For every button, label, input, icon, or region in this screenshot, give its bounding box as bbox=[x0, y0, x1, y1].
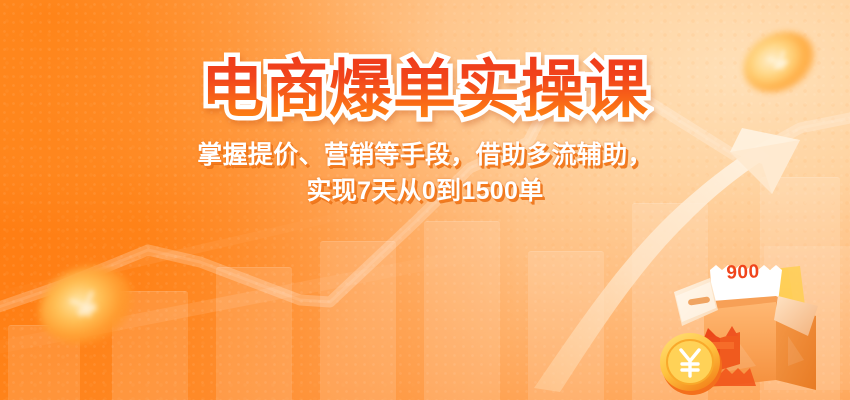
page-title-fill: 电商爆单实操课 bbox=[201, 56, 649, 124]
package-illustration: 900 bbox=[660, 240, 850, 400]
banner-subtitle: 掌握提价、营销等手段，借助多流辅助， 实现7天从0到1500单 bbox=[0, 138, 850, 209]
open-package-box-icon bbox=[660, 240, 850, 400]
subtitle-line-2: 实现7天从0到1500单 bbox=[0, 174, 850, 210]
page-title: 电商爆单实操课 电商爆单实操课 bbox=[201, 56, 649, 124]
promo-banner: 900 电商爆单实操课 电商爆单实操课 掌握提价、营销等手段，借助多流辅助， 实… bbox=[0, 0, 850, 400]
banner-text-block: 电商爆单实操课 电商爆单实操课 掌握提价、营销等手段，借助多流辅助， 实现7天从… bbox=[0, 56, 850, 209]
subtitle-line-1: 掌握提价、营销等手段，借助多流辅助， bbox=[0, 138, 850, 174]
